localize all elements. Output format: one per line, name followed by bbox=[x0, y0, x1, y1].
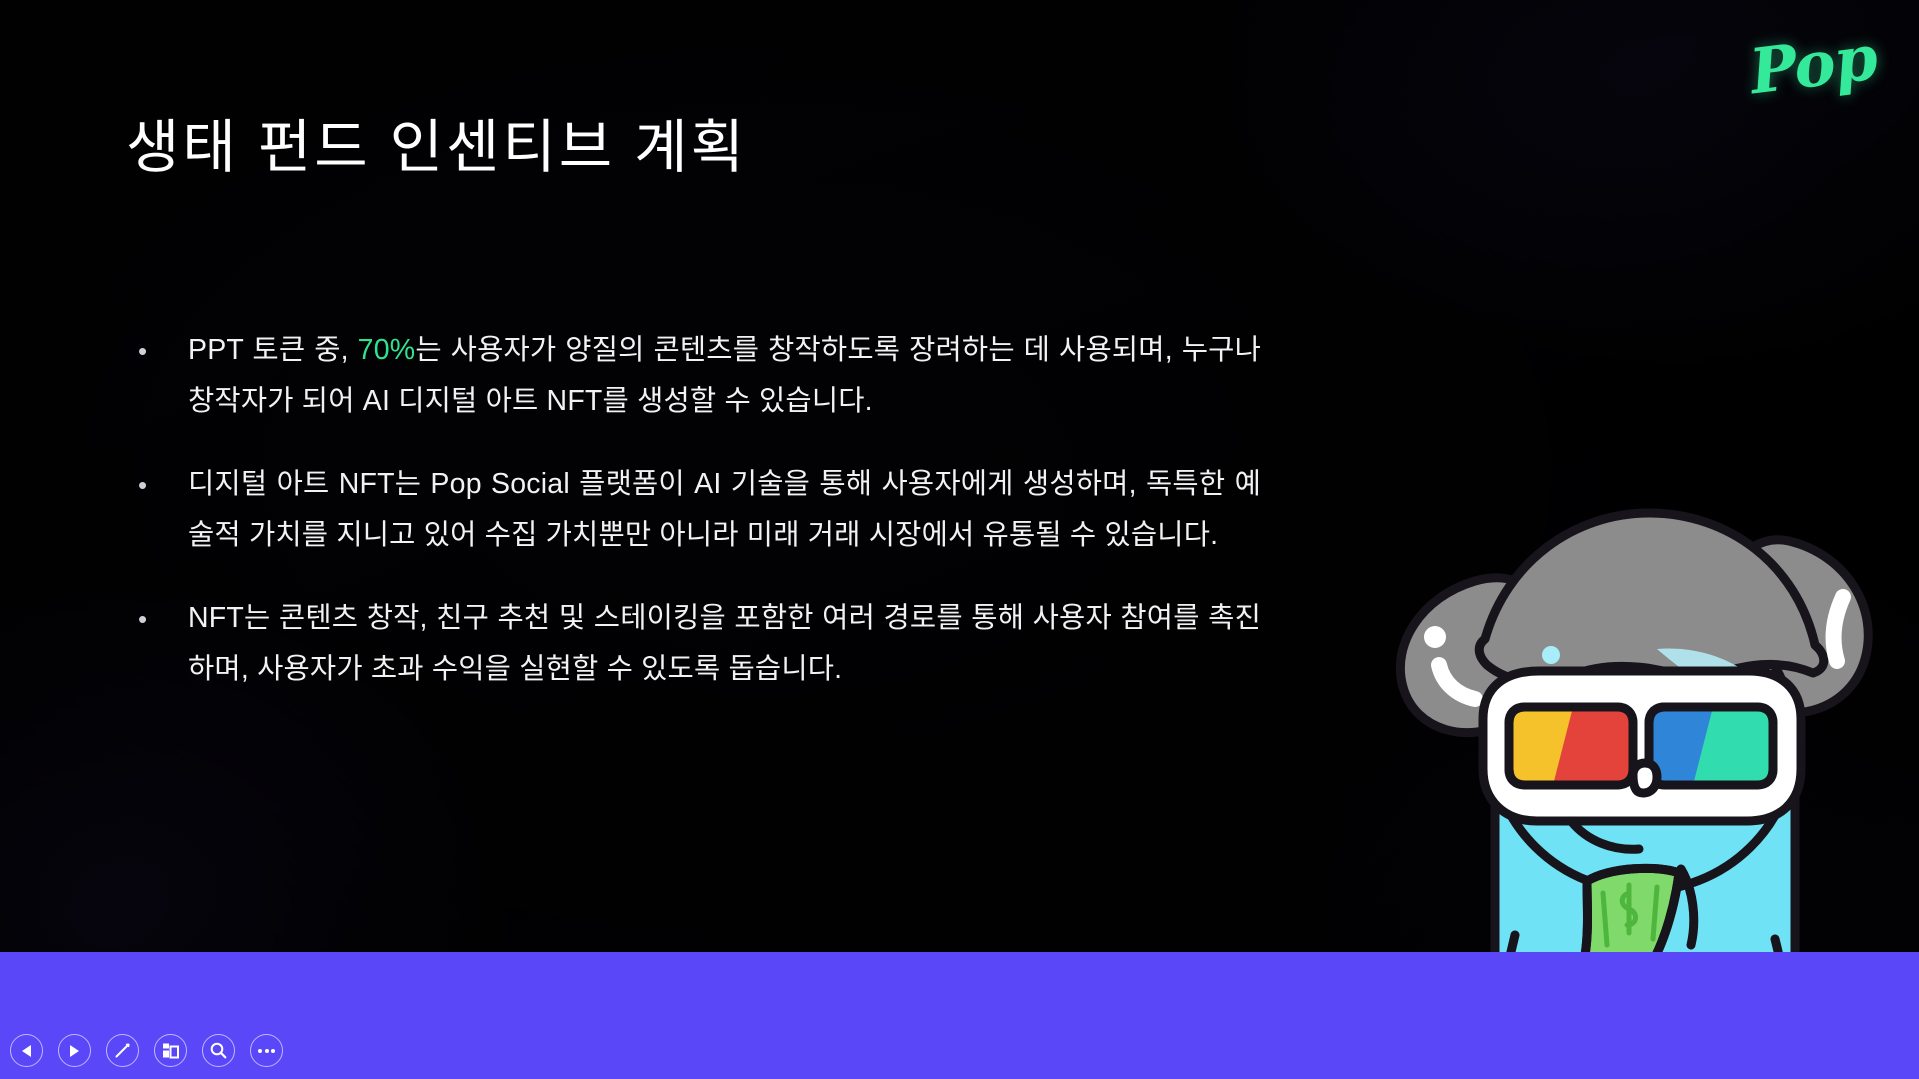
page-title: 생태 펀드 인센티브 계획 bbox=[126, 100, 747, 184]
toolbar-button-group bbox=[10, 1034, 283, 1067]
mascot-forehead-bubble bbox=[1542, 646, 1560, 664]
previous-slide-button[interactable] bbox=[10, 1034, 43, 1067]
mascot-ear-highlight-arc-2 bbox=[1834, 597, 1843, 661]
triangle-right-icon bbox=[70, 1045, 79, 1057]
grid-layout-icon bbox=[161, 1041, 180, 1060]
more-options-button[interactable] bbox=[250, 1034, 283, 1067]
bullet-highlight-70-percent: 70% bbox=[358, 334, 416, 366]
list-item: • PPT 토큰 중, 70%는 사용자가 양질의 콘텐츠를 창작하도록 장려하… bbox=[126, 325, 1261, 427]
zoom-button[interactable] bbox=[202, 1034, 235, 1067]
ellipsis-icon bbox=[258, 1049, 275, 1053]
bullet-text-3: NFT는 콘텐츠 창작, 친구 추천 및 스테이킹을 포함한 여러 경로를 통해… bbox=[188, 593, 1261, 695]
pen-icon bbox=[113, 1041, 132, 1060]
list-item: • 디지털 아트 NFT는 Pop Social 플랫폼이 AI 기술을 통해 … bbox=[126, 459, 1261, 561]
bullet-marker-icon: • bbox=[126, 593, 188, 645]
bullet-marker-icon: • bbox=[126, 459, 188, 511]
presentation-toolbar bbox=[0, 952, 1919, 1079]
magnifier-icon bbox=[209, 1041, 228, 1060]
mascot-nose bbox=[1633, 763, 1657, 793]
bullet-list: • PPT 토큰 중, 70%는 사용자가 양질의 콘텐츠를 창작하도록 장려하… bbox=[126, 325, 1261, 695]
presentation-slide: Pop 생태 펀드 인센티브 계획 • PPT 토큰 중, 70%는 사용자가 … bbox=[0, 0, 1919, 1079]
bullet-text-1: PPT 토큰 중, 70%는 사용자가 양질의 콘텐츠를 창작하도록 장려하는 … bbox=[188, 325, 1261, 427]
layout-view-button[interactable] bbox=[154, 1034, 187, 1067]
mascot-ear-highlight-dot bbox=[1424, 626, 1446, 648]
triangle-left-icon bbox=[22, 1045, 31, 1057]
bullet-segment: PPT 토큰 중, bbox=[188, 334, 358, 366]
pen-tool-button[interactable] bbox=[106, 1034, 139, 1067]
list-item: • NFT는 콘텐츠 창작, 친구 추천 및 스테이킹을 포함한 여러 경로를 … bbox=[126, 593, 1261, 695]
bullet-marker-icon: • bbox=[126, 325, 188, 377]
bullet-text-2: 디지털 아트 NFT는 Pop Social 플랫폼이 AI 기술을 통해 사용… bbox=[188, 459, 1261, 561]
pop-brand-logo: Pop bbox=[1747, 27, 1880, 104]
next-slide-button[interactable] bbox=[58, 1034, 91, 1067]
